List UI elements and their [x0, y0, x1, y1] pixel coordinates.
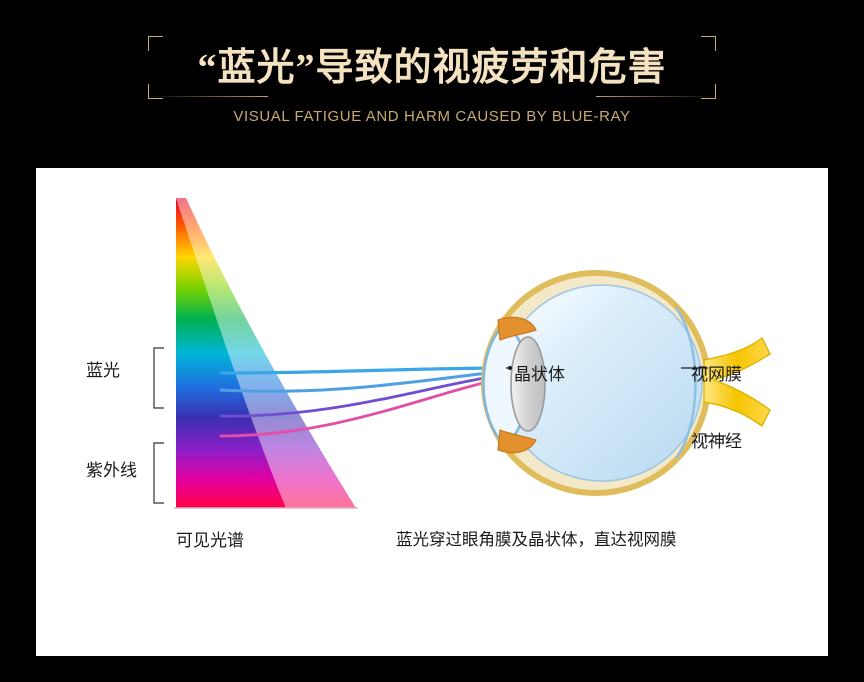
diagram-card: 蓝光 紫外线 可见光谱 晶状体 视网膜 视神经 蓝光穿过眼角膜及晶状体，直达视网…	[36, 168, 828, 656]
eye-spectrum-diagram	[36, 168, 828, 656]
header-rule-right	[596, 96, 716, 97]
blue-light-bracket	[154, 348, 164, 408]
visible-spectrum-graphic	[176, 198, 356, 508]
label-blue-light: 蓝光	[86, 356, 120, 381]
page-subtitle: VISUAL FATIGUE AND HARM CAUSED BY BLUE-R…	[0, 108, 864, 125]
footer-chain-text: 蓝光 → 自由基 → 视网膜色素上皮细胞衰亡 → 光敏细胞死亡 → 黄斑病变(A…	[36, 601, 828, 627]
label-retina: 视网膜	[691, 360, 742, 385]
label-ultraviolet: 紫外线	[86, 456, 137, 481]
ultraviolet-bracket	[154, 443, 164, 503]
lens-leader-dot	[508, 366, 512, 370]
label-visible-spectrum: 可见光谱	[176, 526, 244, 551]
header: “蓝光”导致的视疲劳和危害 VISUAL FATIGUE AND HARM CA…	[0, 0, 864, 168]
page-root: “蓝光”导致的视疲劳和危害 VISUAL FATIGUE AND HARM CA…	[0, 0, 864, 682]
header-rule-left	[148, 96, 268, 97]
diagram-caption: 蓝光穿过眼角膜及晶状体，直达视网膜	[396, 526, 677, 550]
label-lens: 晶状体	[514, 360, 565, 385]
page-title: “蓝光”导致的视疲劳和危害	[0, 36, 864, 91]
label-optic-nerve: 视神经	[691, 427, 742, 452]
